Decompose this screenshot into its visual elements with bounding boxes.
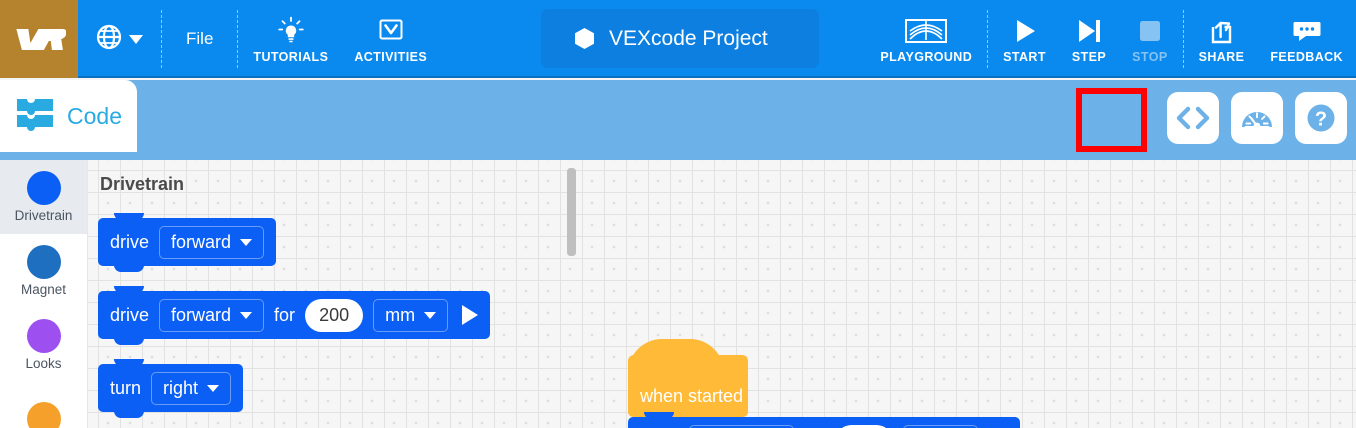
block-label: when started bbox=[640, 386, 743, 407]
block-notch bbox=[644, 412, 674, 419]
chevron-down-icon bbox=[424, 312, 436, 319]
unit-value: mm bbox=[385, 305, 415, 326]
direction-dropdown[interactable]: forward bbox=[689, 425, 794, 428]
comment-icon bbox=[1292, 14, 1322, 48]
direction-dropdown[interactable]: right bbox=[151, 372, 231, 405]
direction-value: forward bbox=[171, 232, 231, 253]
file-menu-button[interactable]: File bbox=[164, 0, 235, 78]
share-label: SHARE bbox=[1199, 50, 1245, 64]
drive-forward-block[interactable]: drive forward for 200 mm bbox=[628, 417, 1020, 428]
playground-icon bbox=[904, 14, 948, 48]
direction-dropdown[interactable]: forward bbox=[159, 226, 264, 259]
block-notch bbox=[114, 265, 144, 272]
vexcode-vr-window: File bbox=[0, 0, 1356, 428]
drive-direction-block[interactable]: drive forward bbox=[98, 218, 276, 266]
category-color-dot bbox=[27, 171, 61, 205]
unit-dropdown[interactable]: mm bbox=[903, 425, 978, 428]
tutorials-button[interactable]: TUTORIALS bbox=[240, 0, 341, 78]
block-label: drive bbox=[110, 305, 149, 326]
playground-button[interactable]: PLAYGROUND bbox=[867, 0, 985, 78]
stop-button[interactable]: STOP bbox=[1119, 0, 1180, 78]
category-magnet[interactable]: Magnet bbox=[0, 234, 87, 308]
toolbar-right-group: PLAYGROUND START STEP bbox=[867, 0, 1356, 78]
toolbar-divider bbox=[987, 10, 988, 68]
activities-button[interactable]: ACTIVITIES bbox=[341, 0, 440, 78]
play-icon bbox=[1011, 14, 1039, 48]
when-started-block[interactable]: when started bbox=[628, 355, 748, 417]
category-next[interactable] bbox=[0, 382, 87, 428]
toolbar-divider bbox=[237, 10, 238, 68]
stacked-blocks-icon bbox=[15, 96, 57, 137]
chevron-down-icon bbox=[240, 239, 252, 246]
globe-icon bbox=[96, 24, 122, 55]
block-notch bbox=[114, 213, 144, 220]
direction-dropdown[interactable]: forward bbox=[159, 299, 264, 332]
block-label: drive bbox=[110, 232, 149, 253]
toggle-text-view-button[interactable] bbox=[1167, 92, 1219, 144]
category-label: Looks bbox=[25, 356, 61, 371]
main-toolbar: File bbox=[0, 0, 1356, 78]
category-label: Drivetrain bbox=[15, 208, 73, 223]
tab-code-label: Code bbox=[67, 103, 122, 130]
chevron-down-icon bbox=[129, 35, 143, 44]
sub-toolbar-actions: ? bbox=[1167, 92, 1347, 144]
help-button[interactable]: ? bbox=[1295, 92, 1347, 144]
block-notch bbox=[114, 338, 144, 345]
toolbar-left-group: File bbox=[78, 0, 440, 78]
distance-input[interactable]: 200 bbox=[835, 425, 893, 428]
turn-direction-block[interactable]: turn right bbox=[98, 364, 243, 412]
chevron-down-icon bbox=[207, 385, 219, 392]
block-notch bbox=[114, 359, 144, 366]
project-name-button[interactable]: VEXcode Project bbox=[541, 9, 819, 68]
chevron-down-icon bbox=[240, 312, 252, 319]
block-label: turn bbox=[110, 378, 141, 399]
language-selector[interactable] bbox=[78, 24, 159, 55]
step-forward-icon bbox=[1075, 14, 1103, 48]
category-rail: Drivetrain Magnet Looks bbox=[0, 160, 88, 428]
sub-toolbar: Code bbox=[0, 80, 1356, 160]
direction-value: right bbox=[163, 378, 198, 399]
toolbar-divider bbox=[161, 10, 162, 68]
category-color-dot bbox=[27, 319, 61, 353]
category-looks[interactable]: Looks bbox=[0, 308, 87, 382]
palette-title: Drivetrain bbox=[100, 174, 184, 195]
category-label: Magnet bbox=[21, 282, 66, 297]
block-palette: Drivetrain drive forward drive forward bbox=[88, 160, 570, 428]
feedback-button[interactable]: FEEDBACK bbox=[1257, 0, 1356, 78]
category-color-dot bbox=[27, 245, 61, 279]
step-label: STEP bbox=[1072, 50, 1106, 64]
stop-square-icon bbox=[1136, 14, 1164, 48]
unit-dropdown[interactable]: mm bbox=[373, 299, 448, 332]
activities-label: ACTIVITIES bbox=[354, 50, 427, 64]
tutorials-label: TUTORIALS bbox=[253, 50, 328, 64]
category-color-dot bbox=[27, 402, 61, 428]
tab-code[interactable]: Code bbox=[0, 80, 137, 152]
dashboard-button[interactable] bbox=[1231, 92, 1283, 144]
block-notch bbox=[114, 411, 144, 418]
start-button[interactable]: START bbox=[990, 0, 1059, 78]
category-drivetrain[interactable]: Drivetrain bbox=[0, 160, 87, 234]
vr-logo bbox=[0, 0, 78, 78]
hexagon-icon bbox=[575, 28, 594, 49]
lightbulb-icon bbox=[276, 14, 306, 48]
for-label: for bbox=[274, 305, 295, 326]
svg-text:?: ? bbox=[1315, 109, 1327, 131]
share-button[interactable]: SHARE bbox=[1186, 0, 1258, 78]
stop-label: STOP bbox=[1132, 50, 1167, 64]
checkbox-envelope-icon bbox=[376, 14, 406, 48]
workspace-scrollbar[interactable] bbox=[567, 168, 574, 256]
step-button[interactable]: STEP bbox=[1059, 0, 1119, 78]
feedback-label: FEEDBACK bbox=[1270, 50, 1343, 64]
run-block-icon[interactable] bbox=[462, 305, 478, 325]
block-notch bbox=[114, 286, 144, 293]
drive-for-distance-block[interactable]: drive forward for 200 mm bbox=[98, 291, 490, 339]
distance-input[interactable]: 200 bbox=[305, 299, 363, 332]
start-label: START bbox=[1003, 50, 1046, 64]
project-name-label: VEXcode Project bbox=[609, 27, 768, 51]
file-menu-label: File bbox=[186, 29, 213, 49]
playground-label: PLAYGROUND bbox=[880, 50, 972, 64]
toolbar-divider bbox=[1183, 10, 1184, 68]
direction-value: forward bbox=[171, 305, 231, 326]
share-box-icon bbox=[1207, 14, 1235, 48]
editor-workspace: Drivetrain Magnet Looks Drivetrain drive bbox=[0, 160, 1356, 428]
